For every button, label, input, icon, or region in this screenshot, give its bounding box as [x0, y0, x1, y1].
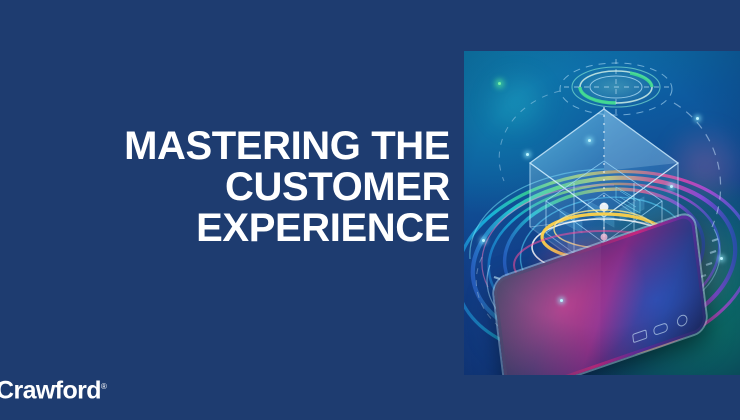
- artwork-vignette: [464, 51, 740, 375]
- crawford-logo: Crawford®: [0, 373, 107, 404]
- headline-line-2: CUSTOMER: [40, 167, 450, 208]
- page-title: MASTERING THE CUSTOMER EXPERIENCE: [40, 126, 450, 249]
- artwork-canvas: [464, 51, 740, 375]
- headline-line-1: MASTERING THE: [40, 126, 450, 167]
- headline-line-3: EXPERIENCE: [40, 208, 450, 249]
- registered-trademark-icon: ®: [101, 382, 107, 391]
- presentation-slide: MASTERING THE CUSTOMER EXPERIENCE Crawfo…: [0, 0, 740, 420]
- artwork-panel: [464, 51, 740, 375]
- logo-wordmark: Crawford: [0, 376, 101, 404]
